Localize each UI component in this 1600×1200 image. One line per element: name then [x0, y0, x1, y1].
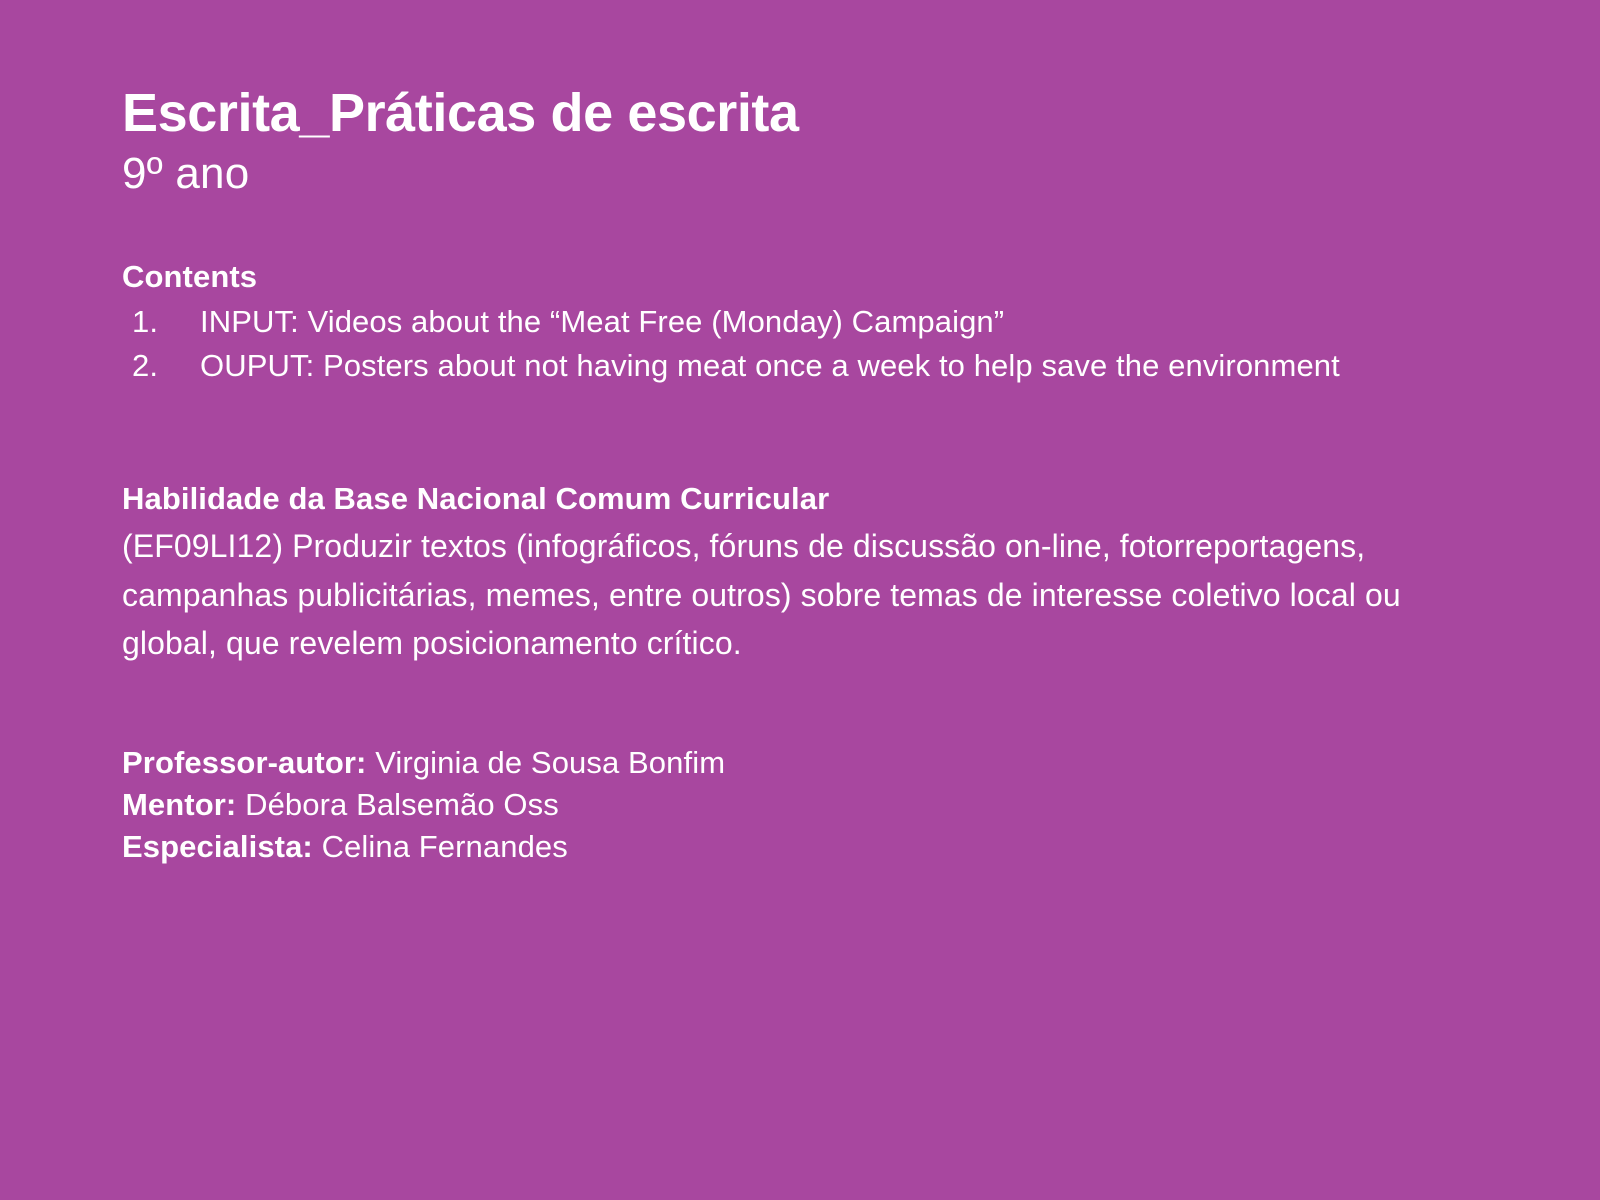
list-item: 1. INPUT: Videos about the “Meat Free (M… [122, 300, 1462, 344]
contents-list: 1. INPUT: Videos about the “Meat Free (M… [122, 300, 1462, 388]
contents-heading: Contents [122, 258, 1480, 296]
credit-role-label: Mentor: [122, 787, 236, 822]
bncc-skill-description: (EF09LI12) Produzir textos (infográficos… [122, 522, 1467, 668]
credit-person-name: Celina Fernandes [322, 829, 568, 864]
credit-role-label: Especialista: [122, 829, 313, 864]
credit-mentor: Mentor: Débora Balsemão Oss [122, 784, 1480, 826]
slide-root: Escrita_Práticas de escrita 9º ano Conte… [0, 0, 1600, 1200]
credit-role-label: Professor-autor: [122, 745, 366, 780]
list-item: 2. OUPUT: Posters about not having meat … [122, 344, 1462, 388]
page-title: Escrita_Práticas de escrita [122, 84, 1480, 142]
grade-level-subtitle: 9º ano [122, 148, 1480, 200]
title-block: Escrita_Práticas de escrita 9º ano [122, 84, 1480, 200]
credit-professor-autor: Professor-autor: Virginia de Sousa Bonfi… [122, 742, 1480, 784]
credit-person-name: Virginia de Sousa Bonfim [375, 745, 725, 780]
credit-person-name: Débora Balsemão Oss [245, 787, 559, 822]
list-item-label: INPUT: Videos about the “Meat Free (Mond… [200, 304, 1004, 339]
list-item-marker: 2. [132, 344, 158, 388]
credits-section: Professor-autor: Virginia de Sousa Bonfi… [122, 742, 1480, 868]
list-item-label: OUPUT: Posters about not having meat onc… [200, 348, 1340, 383]
list-item-marker: 1. [132, 300, 158, 344]
bncc-heading: Habilidade da Base Nacional Comum Curric… [122, 480, 1467, 518]
bncc-skill-section: Habilidade da Base Nacional Comum Curric… [122, 480, 1467, 668]
credit-especialista: Especialista: Celina Fernandes [122, 826, 1480, 868]
contents-section: Contents 1. INPUT: Videos about the “Mea… [122, 258, 1480, 388]
